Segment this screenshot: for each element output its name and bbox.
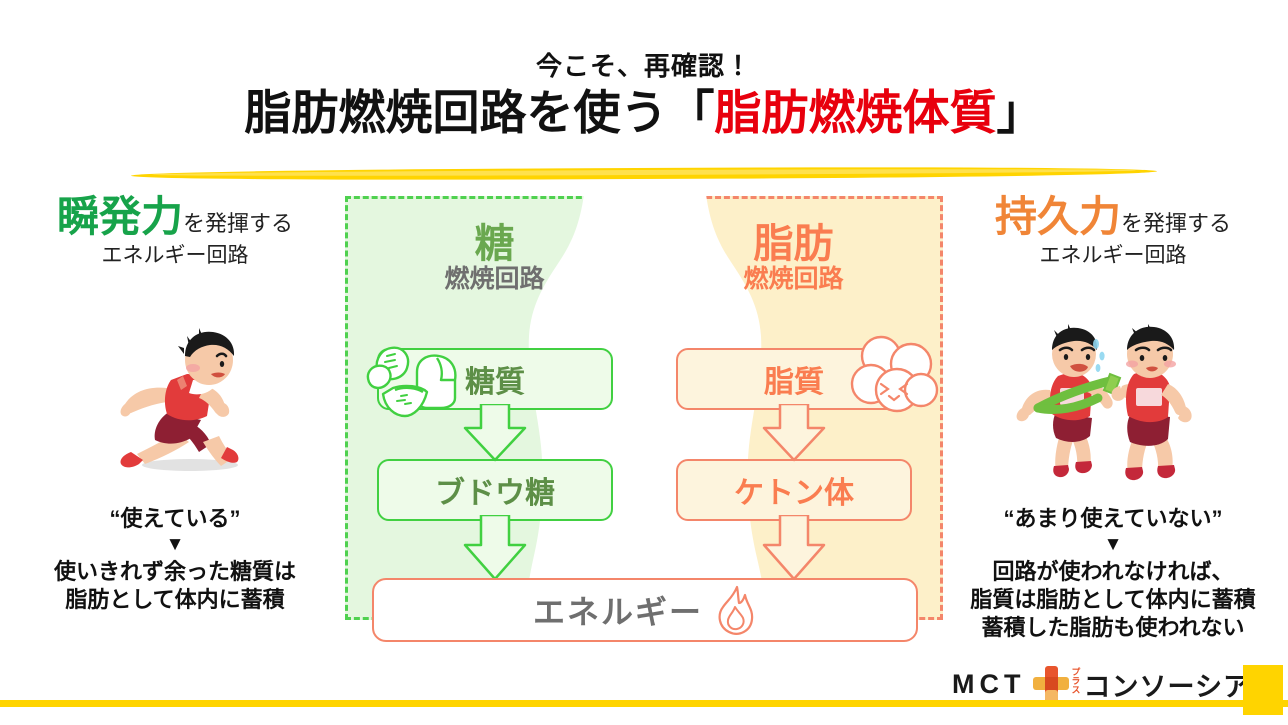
left-caption-line2: 脂肪として体内に蓄積 (10, 586, 340, 614)
arrow-sugar-1 (455, 404, 535, 464)
right-heading-subtitle: エネルギー回路 (948, 244, 1278, 268)
fat-panel-title: 脂肪 (644, 224, 943, 264)
right-heading-suffix: を発揮する (1121, 211, 1231, 236)
title-kicker: 今こそ、再確認！ (0, 52, 1288, 81)
fat-panel-heading: 脂肪 燃焼回路 (644, 224, 943, 294)
left-column-heading: 瞬発力を発揮する (10, 196, 340, 238)
sugar-panel-title: 糖 (345, 224, 644, 264)
left-heading-subtitle: エネルギー回路 (10, 244, 340, 268)
right-caption-line3: 蓄積した脂肪も使われない (948, 614, 1278, 642)
left-heading-emphasis: 瞬発力 (57, 193, 183, 240)
fat-panel-subtitle: 燃焼回路 (644, 266, 943, 294)
relay-runners-illustration (998, 324, 1228, 484)
arrow-sugar-2 (455, 515, 535, 583)
sugar-panel-heading: 糖 燃焼回路 (345, 224, 644, 294)
left-column: 瞬発力を発揮する エネルギー回路 (10, 196, 340, 268)
arrow-fat-2 (754, 515, 834, 583)
logo-mct-text: MCT (952, 669, 1025, 700)
chip-sugar-step2: ブドウ糖 (377, 459, 613, 521)
chip-fat-step2: ケトン体 (676, 459, 912, 521)
right-caption-arrow: ▼ (948, 533, 1278, 557)
title-underline-brushstroke (131, 166, 1157, 181)
mct-plus-consortium-logo: MCT プラス コンソーシアム (952, 666, 1277, 702)
right-caption-line2: 脂質は脂肪として体内に蓄積 (948, 586, 1278, 614)
flame-icon (713, 585, 757, 635)
left-caption: “使えている” ▼ 使いきれず余った糖質は 脂肪として体内に蓄積 (10, 506, 340, 614)
headline-highlight: 脂肪燃焼体質 (715, 86, 997, 139)
right-caption: “あまり使えていない” ▼ 回路が使われなければ、 脂質は脂肪として体内に蓄積 … (948, 506, 1278, 643)
fat-cell-cloud-icon (845, 334, 941, 420)
footer-rule (0, 700, 1288, 707)
plus-cross-icon: プラス (1031, 665, 1077, 703)
right-heading-emphasis: 持久力 (995, 193, 1121, 240)
sprinter-runner-illustration (85, 326, 275, 476)
left-caption-arrow: ▼ (10, 533, 340, 557)
slide-root: 今こそ、再確認！ 脂肪燃焼回路を使う「脂肪燃焼体質」 瞬発力を発揮する エネルギ… (0, 0, 1288, 725)
right-caption-quote: “あまり使えていない” (948, 506, 1278, 532)
left-heading-suffix: を発揮する (183, 211, 293, 236)
arrow-fat-1 (754, 404, 834, 464)
left-caption-quote: “使えている” (10, 506, 340, 532)
logo-plus-text: プラス (1070, 667, 1079, 694)
energy-label: エネルギー (533, 587, 703, 633)
sugar-panel-subtitle: 燃焼回路 (345, 266, 644, 294)
page-title: 脂肪燃焼回路を使う「脂肪燃焼体質」 (0, 87, 1288, 140)
energy-output-box: エネルギー (372, 578, 918, 642)
footer-corner-block (1243, 665, 1283, 715)
energy-circuit-diagram: 糖 燃焼回路 脂肪 燃焼回路 (345, 196, 943, 620)
right-caption-line1: 回路が使われなければ、 (948, 558, 1278, 586)
title-block: 今こそ、再確認！ 脂肪燃焼回路を使う「脂肪燃焼体質」 (0, 52, 1288, 139)
right-column: 持久力を発揮する エネルギー回路 (948, 196, 1278, 268)
right-column-heading: 持久力を発揮する (948, 196, 1278, 238)
left-caption-line1: 使いきれず余った糖質は (10, 558, 340, 586)
headline-post: 」 (997, 86, 1044, 139)
headline-pre: 脂肪燃焼回路を使う「 (245, 86, 715, 139)
rice-bread-potato-icon (365, 338, 461, 420)
